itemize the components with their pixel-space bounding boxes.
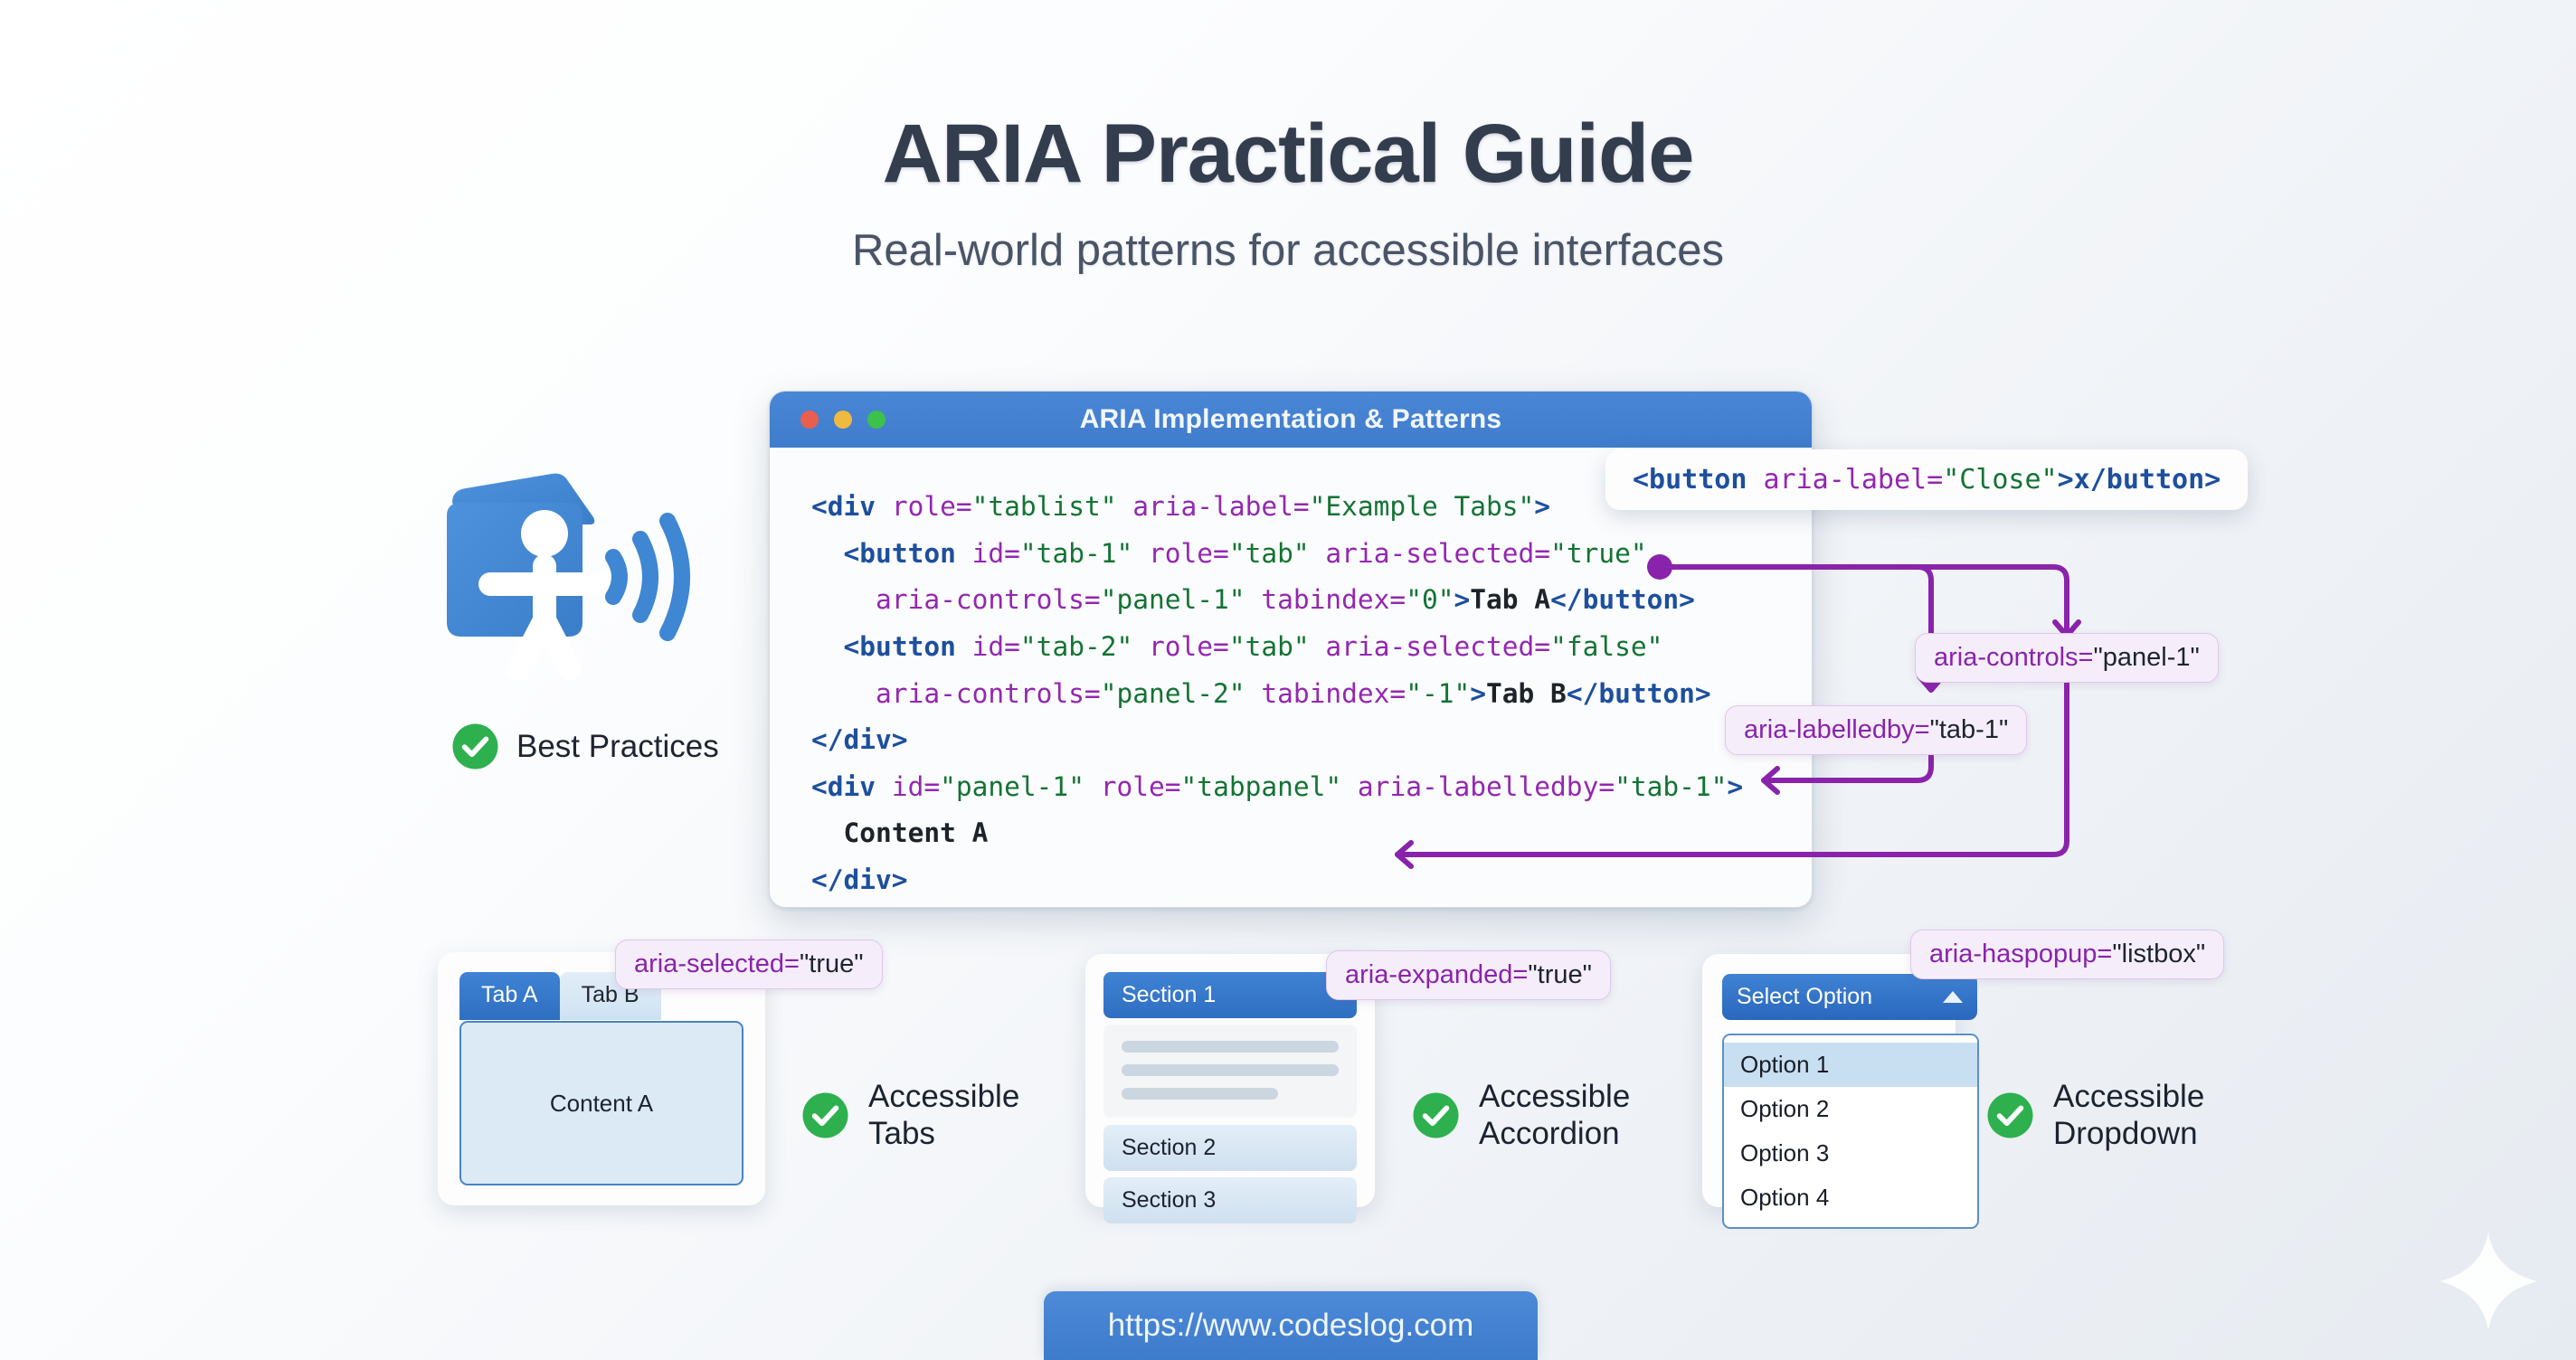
pill-key: aria-labelledby= — [1744, 715, 1930, 744]
pill-aria-selected: aria-selected="true" — [615, 940, 883, 989]
pill-aria-expanded: aria-expanded="true" — [1326, 950, 1611, 1000]
footer-url-text: https://www.codeslog.com — [1108, 1308, 1474, 1344]
accordion-caption: Accessible Accordion — [1411, 1078, 1630, 1153]
check-circle-icon — [1985, 1091, 2035, 1140]
dropdown-option-2[interactable]: Option 2 — [1724, 1087, 1977, 1131]
dropdown-option-3[interactable]: Option 3 — [1724, 1131, 1977, 1176]
best-practices-badge: Best Practices — [425, 722, 724, 771]
accordion-panel-1 — [1103, 1025, 1357, 1118]
accordion-header-1[interactable]: Section 1 — [1103, 972, 1357, 1018]
page-title: ARIA Practical Guide — [0, 107, 2576, 202]
tabs-caption-line1: Accessible — [868, 1078, 1019, 1115]
check-circle-icon — [1411, 1091, 1461, 1140]
tabs-widget-card: Tab A Tab B Content A — [438, 952, 765, 1205]
check-circle-icon — [450, 722, 500, 771]
page-header: ARIA Practical Guide Real-world patterns… — [0, 107, 2576, 276]
window-title: ARIA Implementation & Patterns — [770, 404, 1812, 435]
pill-aria-controls: aria-controls="panel-1" — [1915, 633, 2219, 683]
tabs-caption: Accessible Tabs — [800, 1078, 1019, 1153]
tabpanel-content: Content A — [459, 1021, 743, 1185]
accordion-caption-line1: Accessible — [1479, 1078, 1630, 1115]
dropdown-option-1[interactable]: Option 1 — [1724, 1043, 1977, 1087]
dropdown-button-label: Select Option — [1737, 984, 1872, 1010]
dropdown-caption-line2: Dropdown — [2053, 1115, 2204, 1152]
dropdown-option-4[interactable]: Option 4 — [1724, 1176, 1977, 1220]
dropdown-widget-card: Select Option Option 1 Option 2 Option 3… — [1702, 954, 1956, 1207]
check-circle-icon — [800, 1091, 850, 1140]
window-title-bar: ARIA Implementation & Patterns — [770, 392, 1812, 448]
accordion-caption-line2: Accordion — [1479, 1115, 1630, 1152]
accordion: Section 1 Section 2 Section 3 — [1103, 972, 1357, 1230]
pill-value: "tab-1" — [1930, 715, 2009, 744]
pill-value: "panel-1" — [2094, 643, 2200, 672]
best-practices-label: Best Practices — [516, 729, 719, 765]
dropdown-listbox[interactable]: Option 1 Option 2 Option 3 Option 4 — [1722, 1034, 1979, 1229]
dropdown-button[interactable]: Select Option — [1722, 974, 1977, 1020]
dropdown-caption-line1: Accessible — [2053, 1078, 2204, 1115]
accordion-header-3[interactable]: Section 3 — [1103, 1177, 1357, 1223]
pill-key: aria-controls= — [1934, 643, 2094, 672]
code-block: <div role="tablist" aria-label="Example … — [770, 448, 1812, 904]
footer-url-bar[interactable]: https://www.codeslog.com — [1044, 1291, 1538, 1360]
skeleton-line — [1122, 1088, 1278, 1100]
page-subtitle: Real-world patterns for accessible inter… — [0, 225, 2576, 276]
close-button-tooltip: <button aria-label="Close">x/button> — [1605, 449, 2248, 510]
accordion-header-2[interactable]: Section 2 — [1103, 1125, 1357, 1171]
pill-aria-labelledby: aria-labelledby="tab-1" — [1725, 705, 2027, 755]
pill-value: "true" — [1528, 960, 1592, 989]
pill-value: "true" — [800, 949, 864, 978]
dropdown-caption: Accessible Dropdown — [1985, 1078, 2204, 1153]
tab-a[interactable]: Tab A — [459, 972, 560, 1020]
sparkle-icon — [2435, 1228, 2542, 1335]
skeleton-line — [1122, 1064, 1339, 1076]
skeleton-line — [1122, 1041, 1339, 1053]
caret-up-icon — [1943, 991, 1963, 1003]
pill-key: aria-selected= — [634, 949, 800, 978]
accessibility-speaker-icon — [425, 459, 724, 704]
accessibility-emblem: Best Practices — [425, 459, 724, 771]
pill-key: aria-haspopup= — [1929, 940, 2112, 968]
pill-value: "listbox" — [2112, 940, 2205, 968]
tabs-caption-line2: Tabs — [868, 1115, 1019, 1152]
pill-aria-haspopup: aria-haspopup="listbox" — [1910, 930, 2224, 979]
pill-key: aria-expanded= — [1345, 960, 1528, 989]
